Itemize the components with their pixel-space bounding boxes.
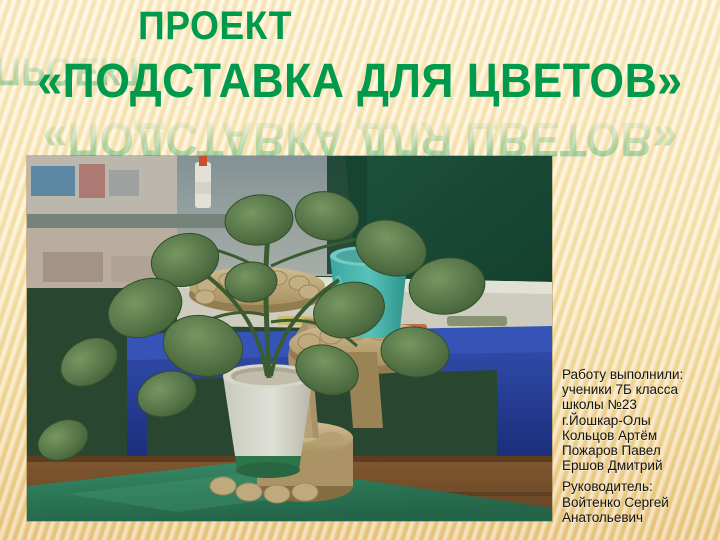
credits-student-3: Ершов Дмитрий [562,458,720,473]
credits-student-2: Пожаров Павел [562,443,720,458]
title-line-1-reflection: ПРОЕКТ [0,48,405,93]
credits-city: г.Йошкар-Олы [562,413,720,428]
credits-supervisor-label: Руководитель: [562,479,720,494]
credits-student-1: Кольцов Артём [562,428,720,443]
credits-class: ученики 7Б класса [562,382,720,397]
slide-photo [27,156,552,521]
credits-block: Работу выполнили: ученики 7Б класса школ… [562,367,720,525]
credits-performers-label: Работу выполнили: [562,367,720,382]
credits-supervisor-name-line-1: Войтенко Сергей [562,495,720,510]
title-line-2: «ПОДСТАВКА ДЛЯ ЦВЕТОВ» [25,58,695,106]
credits-school: школы №23 [562,397,720,412]
credits-supervisor-name-line-2: Анатольевич [562,510,720,525]
presentation-slide: ПРОЕКТ ПРОЕКТ «ПОДСТАВКА ДЛЯ ЦВЕТОВ» «ПО… [0,0,720,540]
slide-title: ПРОЕКТ ПРОЕКТ «ПОДСТАВКА ДЛЯ ЦВЕТОВ» «ПО… [0,6,720,146]
title-line-1: ПРОЕКТ [0,6,685,46]
photo-illustration [27,156,552,521]
